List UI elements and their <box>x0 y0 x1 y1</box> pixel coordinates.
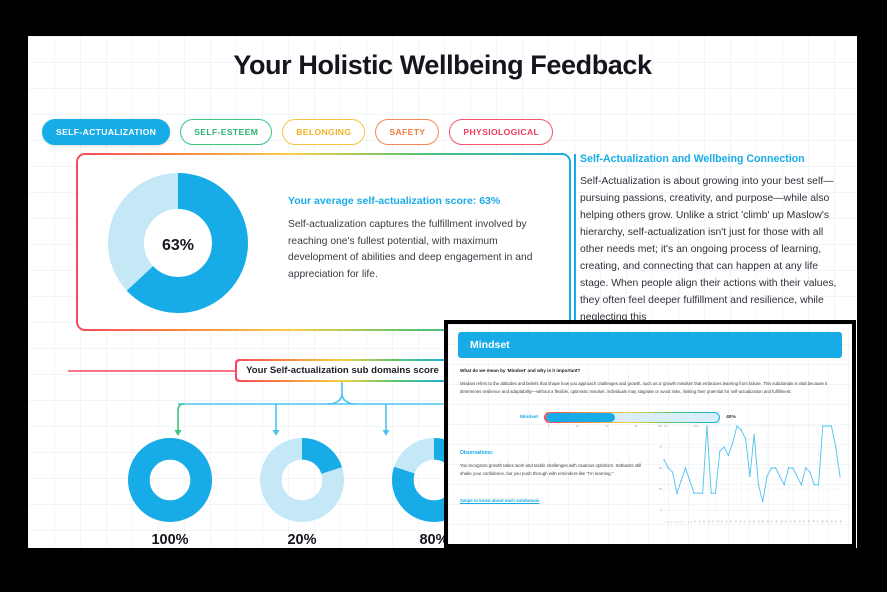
info-body: Self-Actualization is about growing into… <box>580 174 848 327</box>
info-panel: Self-Actualization and Wellbeing Connect… <box>580 153 848 327</box>
main-donut-chart: 63% <box>108 173 248 318</box>
svg-text:0: 0 <box>660 508 662 512</box>
tab-belonging[interactable]: BELONGING <box>282 119 365 145</box>
overlay-question: What do we mean by 'Mindset' and why is … <box>460 368 580 373</box>
score-description: Self-actualization captures the fulfillm… <box>288 217 550 284</box>
screenshot-root: Your Holistic Wellbeing Feedback SELF-AC… <box>0 0 887 592</box>
chart-x-tick: 10 <box>693 520 697 524</box>
overlay-paragraph: Mindset refers to the attitudes and beli… <box>460 380 842 395</box>
observations-title: Observations: <box>460 450 494 456</box>
trend-line-chart: 0255075100 12345678910111213141516171819… <box>648 422 844 540</box>
chart-x-tick: 32 <box>793 520 797 524</box>
swipe-subdomain-link[interactable]: Swipe to know about each subdomain <box>460 498 540 503</box>
tab-physiological[interactable]: PHYSIOLOGICAL <box>449 119 553 145</box>
svg-text:25: 25 <box>659 487 663 491</box>
chart-x-tick: 35 <box>807 520 811 524</box>
category-tabs: SELF-ACTUALIZATION SELF-ESTEEM BELONGING… <box>42 119 553 145</box>
chart-x-tick: 12 <box>702 520 706 524</box>
subdomain-item-social-curiosity[interactable]: 20% Social Curiosity <box>250 438 354 548</box>
tab-self-actualization[interactable]: SELF-ACTUALIZATION <box>42 119 170 145</box>
info-divider <box>574 154 576 340</box>
page-title: Your Holistic Wellbeing Feedback <box>28 50 857 81</box>
subdomain-detail-overlay: Mindset What do we mean by 'Mindset' and… <box>444 320 856 548</box>
summary-card: 63% Your average self-actualization scor… <box>76 153 571 331</box>
tab-safety[interactable]: SAFETY <box>375 119 439 145</box>
chart-x-tick: 21 <box>743 520 747 524</box>
tick: 60 <box>635 425 638 428</box>
main-donut-value: 63% <box>108 173 248 318</box>
tick: 40 <box>605 425 608 428</box>
tick: 0 <box>548 425 549 428</box>
chart-x-tick: 42 <box>839 520 843 524</box>
progress-bar-value: 40% <box>726 415 736 420</box>
tick: 20 <box>576 425 579 428</box>
chart-x-tick: 14 <box>711 520 715 524</box>
subdomain-percent: 100% <box>118 532 222 548</box>
chart-x-tick: 30 <box>784 520 788 524</box>
score-heading: Your average self-actualization score: 6… <box>288 195 548 207</box>
chart-x-tick: 23 <box>752 520 756 524</box>
overlay-title: Mindset <box>458 332 842 358</box>
progress-bar-label: Mindset <box>520 415 538 420</box>
subdomain-item-mindset[interactable]: 100% Mindset <box>118 438 222 548</box>
observations-body: You recognize growth takes work and tack… <box>460 462 642 478</box>
chart-x-tick: 16 <box>720 520 724 524</box>
chart-x-tick: 37 <box>816 520 820 524</box>
tab-self-esteem[interactable]: SELF-ESTEEM <box>180 119 272 145</box>
svg-text:50: 50 <box>659 466 663 470</box>
chart-x-tick: 28 <box>775 520 779 524</box>
chart-x-tick: 39 <box>825 520 829 524</box>
svg-text:100: 100 <box>657 424 662 428</box>
subdomain-percent: 20% <box>250 532 354 548</box>
chart-x-labels: 1234567891011121314151617181920212223242… <box>664 522 842 525</box>
svg-text:75: 75 <box>659 445 663 449</box>
subdomain-score-label: Your Self-actualization sub domains scor… <box>235 359 450 382</box>
chart-x-tick: 19 <box>734 520 738 524</box>
info-heading: Self-Actualization and Wellbeing Connect… <box>580 153 848 165</box>
